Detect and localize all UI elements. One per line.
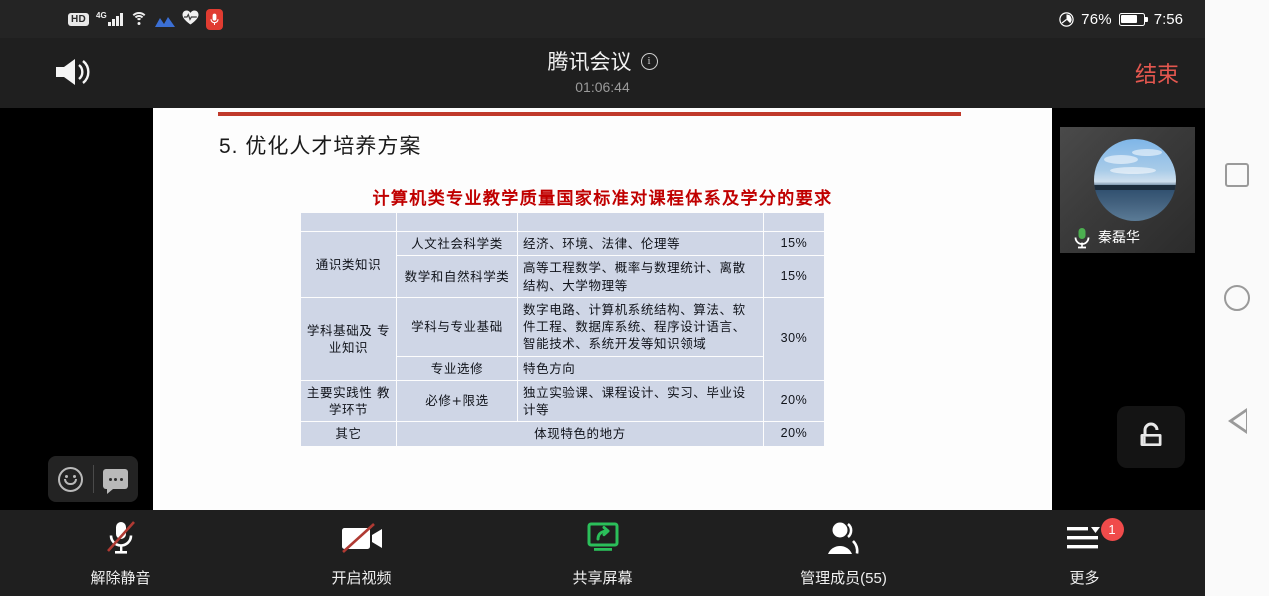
mic-muted-icon	[100, 518, 142, 558]
share-screen-icon	[583, 518, 623, 558]
lock-icon[interactable]	[1117, 406, 1185, 468]
cell-percent: 30%	[764, 298, 824, 380]
smiley-icon	[58, 467, 83, 492]
more-button[interactable]: 1 更多	[964, 510, 1205, 596]
table-header-row	[301, 213, 824, 231]
cell-percent: 15%	[764, 232, 824, 255]
recents-square-icon[interactable]	[1205, 152, 1269, 198]
unmute-button[interactable]: 解除静音	[0, 510, 241, 596]
info-icon[interactable]: i	[641, 53, 658, 70]
cell-content: 经济、环境、法律、伦理等	[518, 232, 763, 255]
battery-percent-label: 76%	[1081, 11, 1112, 28]
screen-root: HD 4G	[0, 0, 1269, 596]
battery-saver-icon	[1059, 12, 1074, 27]
quick-action-divider	[93, 465, 94, 493]
cell-subject: 人文社会科学类	[397, 232, 517, 255]
table-header-cell	[764, 213, 824, 231]
mountain-icon	[155, 14, 175, 25]
quick-action-bar	[48, 456, 138, 502]
more-badge: 1	[1101, 518, 1124, 541]
cell-subject: 数学和自然科学类	[397, 256, 517, 297]
android-nav-bar	[1205, 0, 1269, 596]
cell-category: 主要实践性 教学环节	[301, 381, 396, 422]
slide-table-heading: 计算机类专业教学质量国家标准对课程体系及学分的要求	[153, 184, 1052, 209]
cell-subject: 体现特色的地方	[397, 422, 763, 445]
table-row: 主要实践性 教学环节 必修+限选 独立实验课、课程设计、实习、毕业设计等 20%	[301, 381, 824, 422]
self-video-tile[interactable]: 秦磊华	[1060, 127, 1195, 253]
emoji-reaction-button[interactable]	[48, 467, 93, 492]
meeting-stage: 5. 优化人才培养方案 计算机类专业教学质量国家标准对课程体系及学分的要求 通识…	[0, 108, 1205, 510]
participants-icon	[822, 518, 866, 558]
status-bar-right: 76% 7:56	[1059, 0, 1183, 38]
network-type-label: 4G	[96, 12, 107, 20]
share-screen-button[interactable]: 共享屏幕	[482, 510, 723, 596]
mic-on-icon	[1072, 227, 1092, 249]
toolbar-label: 共享屏幕	[572, 567, 632, 588]
avatar	[1094, 139, 1176, 221]
meeting-title-row: 腾讯会议i	[0, 46, 1205, 76]
wifi-icon	[130, 12, 148, 26]
slide-accent-line	[218, 112, 961, 116]
meeting-toolbar: 解除静音 开启视频	[0, 510, 1205, 596]
table-row: 学科基础及 专业知识 学科与专业基础 数字电路、计算机系统结构、算法、软件工程、…	[301, 298, 824, 356]
toolbar-label: 开启视频	[331, 567, 391, 588]
cell-subject: 专业选修	[397, 357, 517, 380]
meeting-title: 腾讯会议	[548, 46, 632, 76]
more-menu-icon	[1064, 518, 1106, 558]
cell-content: 独立实验课、课程设计、实习、毕业设计等	[518, 381, 763, 422]
cell-percent: 20%	[764, 381, 824, 422]
cell-content: 高等工程数学、概率与数理统计、离散结构、大学物理等	[518, 256, 763, 297]
table-row: 通识类知识 人文社会科学类 经济、环境、法律、伦理等 15%	[301, 232, 824, 255]
end-meeting-button[interactable]: 结束	[1135, 57, 1179, 89]
toolbar-label: 管理成员(55)	[800, 567, 887, 588]
cell-subject: 学科与专业基础	[397, 298, 517, 356]
table-header-cell	[518, 213, 763, 231]
cell-content: 数字电路、计算机系统结构、算法、软件工程、数据库系统、程序设计语言、智能技术、系…	[518, 298, 763, 356]
toolbar-label: 更多	[1069, 567, 1099, 588]
home-circle-icon[interactable]	[1205, 275, 1269, 321]
cell-percent: 20%	[764, 422, 824, 445]
start-video-button[interactable]: 开启视频	[241, 510, 482, 596]
hd-icon: HD	[68, 13, 89, 26]
battery-icon	[1119, 13, 1145, 26]
cell-subject: 必修+限选	[397, 381, 517, 422]
table-row: 其它 体现特色的地方 20%	[301, 422, 824, 445]
cell-category: 学科基础及 专业知识	[301, 298, 396, 380]
status-bar-left: HD 4G	[68, 0, 223, 38]
cell-category: 通识类知识	[301, 232, 396, 297]
cell-content: 特色方向	[518, 357, 763, 380]
heart-rate-icon	[182, 10, 199, 28]
status-bar: HD 4G	[0, 0, 1205, 38]
meeting-timer: 01:06:44	[0, 79, 1205, 95]
cell-category: 其它	[301, 422, 396, 445]
manage-participants-button[interactable]: 管理成员(55)	[723, 510, 964, 596]
back-triangle-icon[interactable]	[1205, 398, 1269, 444]
phone-screen: HD 4G	[0, 0, 1205, 596]
mic-recording-icon	[206, 9, 223, 30]
shared-slide[interactable]: 5. 优化人才培养方案 计算机类专业教学质量国家标准对课程体系及学分的要求 通识…	[153, 108, 1052, 510]
self-tile-name: 秦磊华	[1098, 227, 1140, 247]
camera-muted-icon	[338, 518, 386, 558]
chat-button[interactable]	[93, 469, 138, 489]
cell-percent: 15%	[764, 256, 824, 297]
table-header-cell	[397, 213, 517, 231]
left-pane	[0, 108, 153, 510]
signal-strength-icon	[108, 13, 123, 26]
signal-bars-icon: 4G	[96, 12, 123, 26]
table-header-cell	[301, 213, 396, 231]
toolbar-label: 解除静音	[90, 567, 150, 588]
slide-title: 5. 优化人才培养方案	[219, 130, 421, 160]
status-bar-clock: 7:56	[1154, 11, 1183, 28]
requirements-table: 通识类知识 人文社会科学类 经济、环境、法律、伦理等 15% 数学和自然科学类 …	[300, 212, 825, 447]
chat-bubble-icon	[103, 469, 128, 489]
